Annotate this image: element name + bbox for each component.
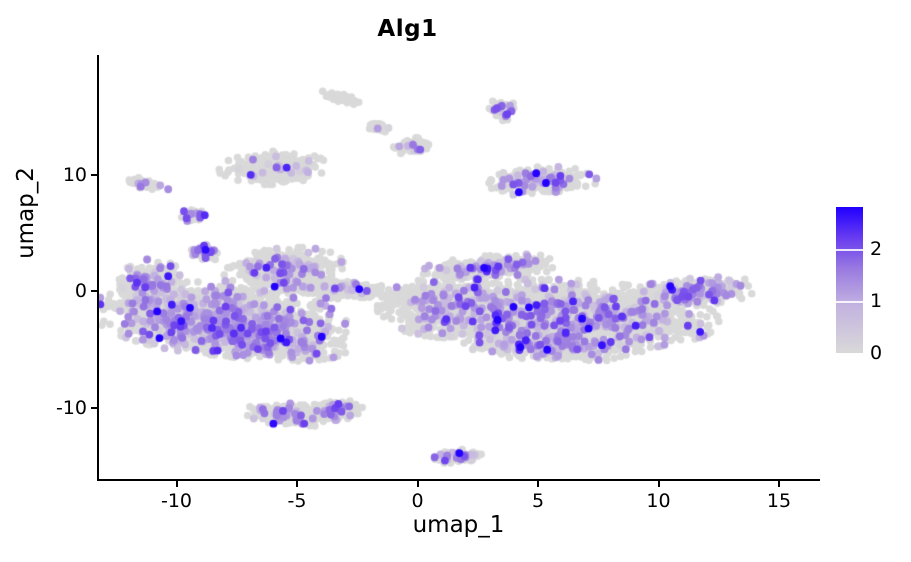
y-tick-mark — [91, 174, 97, 176]
y-tick-mark — [91, 407, 97, 409]
y-tick-label: 10 — [35, 164, 87, 186]
y-tick-label: 0 — [35, 280, 87, 302]
x-tick-mark — [296, 481, 298, 487]
x-tick-mark — [537, 481, 539, 487]
y-axis-label: umap_2 — [13, 103, 39, 323]
x-tick-label: -10 — [161, 490, 192, 512]
x-tick-mark — [417, 481, 419, 487]
x-tick-label: 10 — [646, 490, 670, 512]
y-tick-mark — [91, 290, 97, 292]
colorbar: 012 — [836, 207, 906, 355]
x-tick-mark — [176, 481, 178, 487]
colorbar-tick-label: 1 — [870, 290, 882, 312]
x-tick-mark — [658, 481, 660, 487]
colorbar-tick-mark — [836, 249, 863, 251]
colorbar-gradient — [836, 207, 863, 353]
x-axis-label: umap_1 — [97, 512, 820, 538]
page-title: Alg1 — [0, 16, 863, 42]
x-tick-mark — [778, 481, 780, 487]
plot-axes-area: -10-5051015 100-10 — [97, 55, 820, 481]
x-tick-label: -5 — [288, 490, 307, 512]
scatter-plot-canvas — [97, 55, 820, 481]
x-tick-label: 5 — [532, 490, 544, 512]
colorbar-tick-mark — [836, 301, 863, 303]
x-tick-label: 15 — [767, 490, 791, 512]
y-tick-label: -10 — [35, 397, 87, 419]
colorbar-tick-label: 0 — [870, 342, 882, 364]
x-tick-label: 0 — [411, 490, 423, 512]
colorbar-tick-label: 2 — [870, 238, 882, 260]
umap-feature-plot: Alg1 -10-5051015 100-10 umap_1 umap_2 01… — [0, 0, 911, 562]
